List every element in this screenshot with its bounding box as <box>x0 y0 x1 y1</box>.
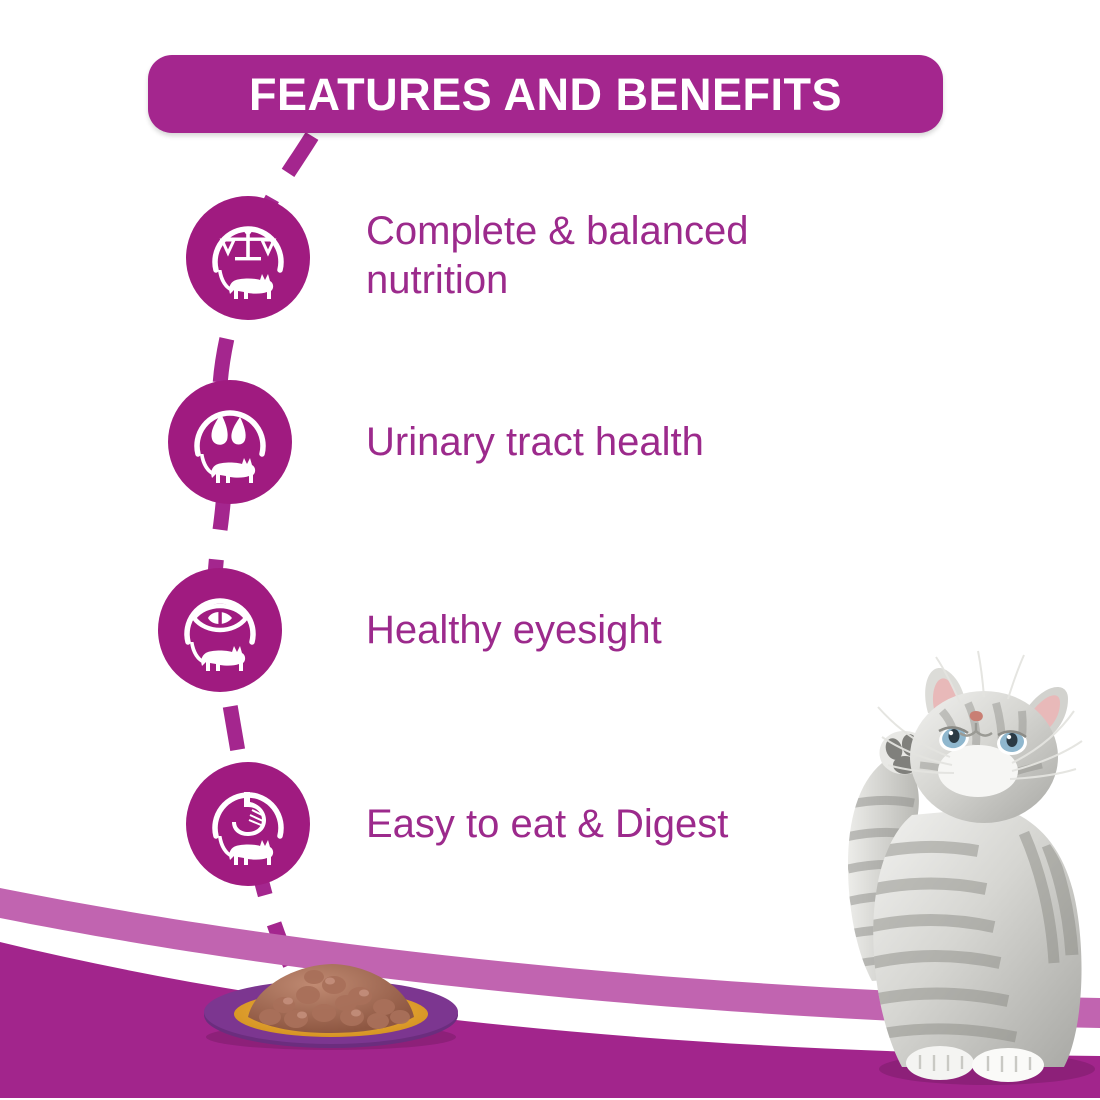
cat-eye-icon <box>158 568 282 692</box>
feature-label: Easy to eat & Digest <box>366 800 728 849</box>
features-and-benefits-poster: FEATURES AND BENEFITS <box>0 0 1100 1100</box>
feature-row: Healthy eyesight <box>158 568 662 692</box>
page-title: FEATURES AND BENEFITS <box>249 72 842 117</box>
balance-scale-cat-icon <box>186 196 310 320</box>
feature-label: Complete & balanced nutrition <box>366 207 748 305</box>
feature-row: Easy to eat & Digest <box>186 762 728 886</box>
feature-label: Urinary tract health <box>366 418 704 467</box>
cat-food-bowl-image <box>196 955 466 1050</box>
feature-label: Healthy eyesight <box>366 606 662 655</box>
header-banner: FEATURES AND BENEFITS <box>148 55 943 133</box>
silver-tabby-kitten-photo <box>762 645 1100 1095</box>
feature-row: Urinary tract health <box>168 380 704 504</box>
water-droplets-cat-icon <box>168 380 292 504</box>
feature-row: Complete & balanced nutrition <box>186 196 748 320</box>
stomach-cat-icon <box>186 762 310 886</box>
